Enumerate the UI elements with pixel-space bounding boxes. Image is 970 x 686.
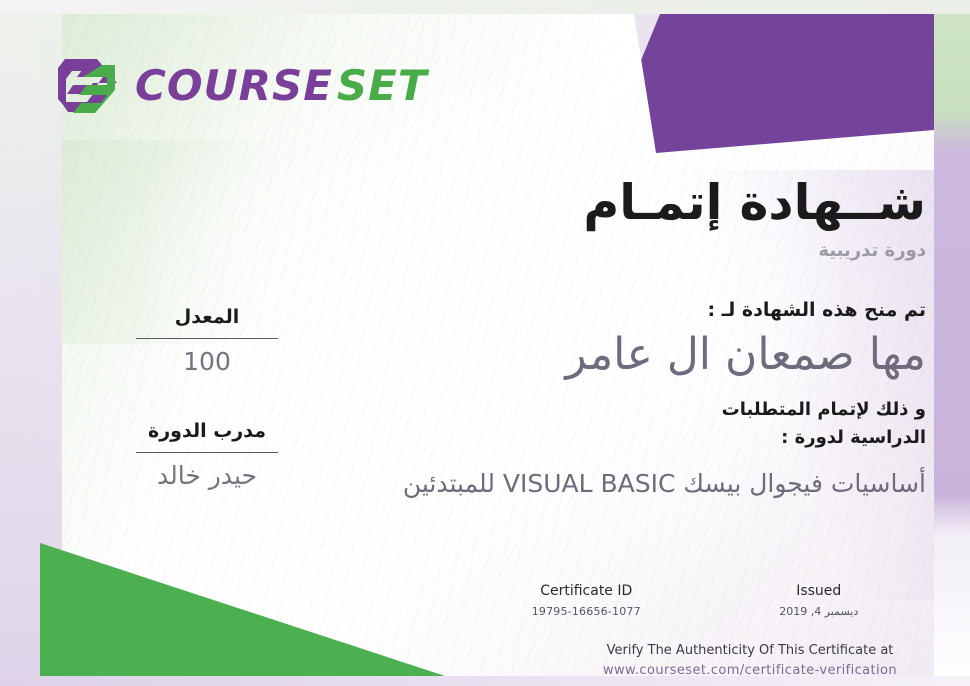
verification-url[interactable]: www.courseset.com/certificate-verificati… <box>560 662 940 680</box>
certificate-subtitle: دورة تدريبية <box>326 240 926 261</box>
verification-block: Verify The Authenticity Of This Certific… <box>560 642 940 679</box>
certificate-canvas: COURSESET شــهادة إتمـام دورة تدريبية تم… <box>0 0 970 686</box>
border-frame-right <box>934 0 970 686</box>
grade-block: المعدل 100 <box>112 306 302 377</box>
brand-logo: COURSESET <box>57 57 428 115</box>
requirements-line-2: الدراسية لدورة : <box>326 424 926 452</box>
brand-name-set: SET <box>337 61 428 110</box>
recipient-name: مها صمعان ال عامر <box>326 327 926 382</box>
border-frame-left <box>0 0 62 686</box>
brand-name-course: COURSE <box>135 61 333 110</box>
certificate-side-details: المعدل 100 مدرب الدورة حيدر خالد <box>112 306 302 491</box>
issued-label: Issued <box>703 583 936 600</box>
awarded-to-label: تم منح هذه الشهادة لـ : <box>326 299 926 321</box>
instructor-value: حيدر خالد <box>112 461 302 491</box>
grade-divider <box>136 338 278 339</box>
certificate-id-block: Certificate ID 19795-16656-1077 <box>470 583 703 618</box>
brand-wordmark: COURSESET <box>135 65 428 107</box>
issued-value: ديسمبر 4, 2019 <box>703 605 936 618</box>
certificate-footer-meta: Certificate ID 19795-16656-1077 Issued د… <box>470 583 935 618</box>
certificate-id-label: Certificate ID <box>470 583 703 600</box>
certificate-title: شــهادة إتمـام <box>326 176 926 230</box>
issued-block: Issued ديسمبر 4, 2019 <box>703 583 936 618</box>
certificate-id-value: 19795-16656-1077 <box>470 605 703 618</box>
instructor-label: مدرب الدورة <box>112 420 302 443</box>
course-title: أساسيات فيجوال بيسك VISUAL BASIC للمبتدئ… <box>326 468 926 501</box>
instructor-divider <box>136 452 278 453</box>
requirements-line-1: و ذلك لإتمام المتطلبات <box>326 396 926 424</box>
grade-label: المعدل <box>112 306 302 329</box>
grade-value: 100 <box>112 347 302 377</box>
border-frame-top <box>0 0 970 14</box>
certificate-main-content: شــهادة إتمـام دورة تدريبية تم منح هذه ا… <box>326 176 926 500</box>
verification-text: Verify The Authenticity Of This Certific… <box>560 642 940 660</box>
courseset-logo-mark-icon <box>57 57 119 115</box>
instructor-block: مدرب الدورة حيدر خالد <box>112 420 302 491</box>
